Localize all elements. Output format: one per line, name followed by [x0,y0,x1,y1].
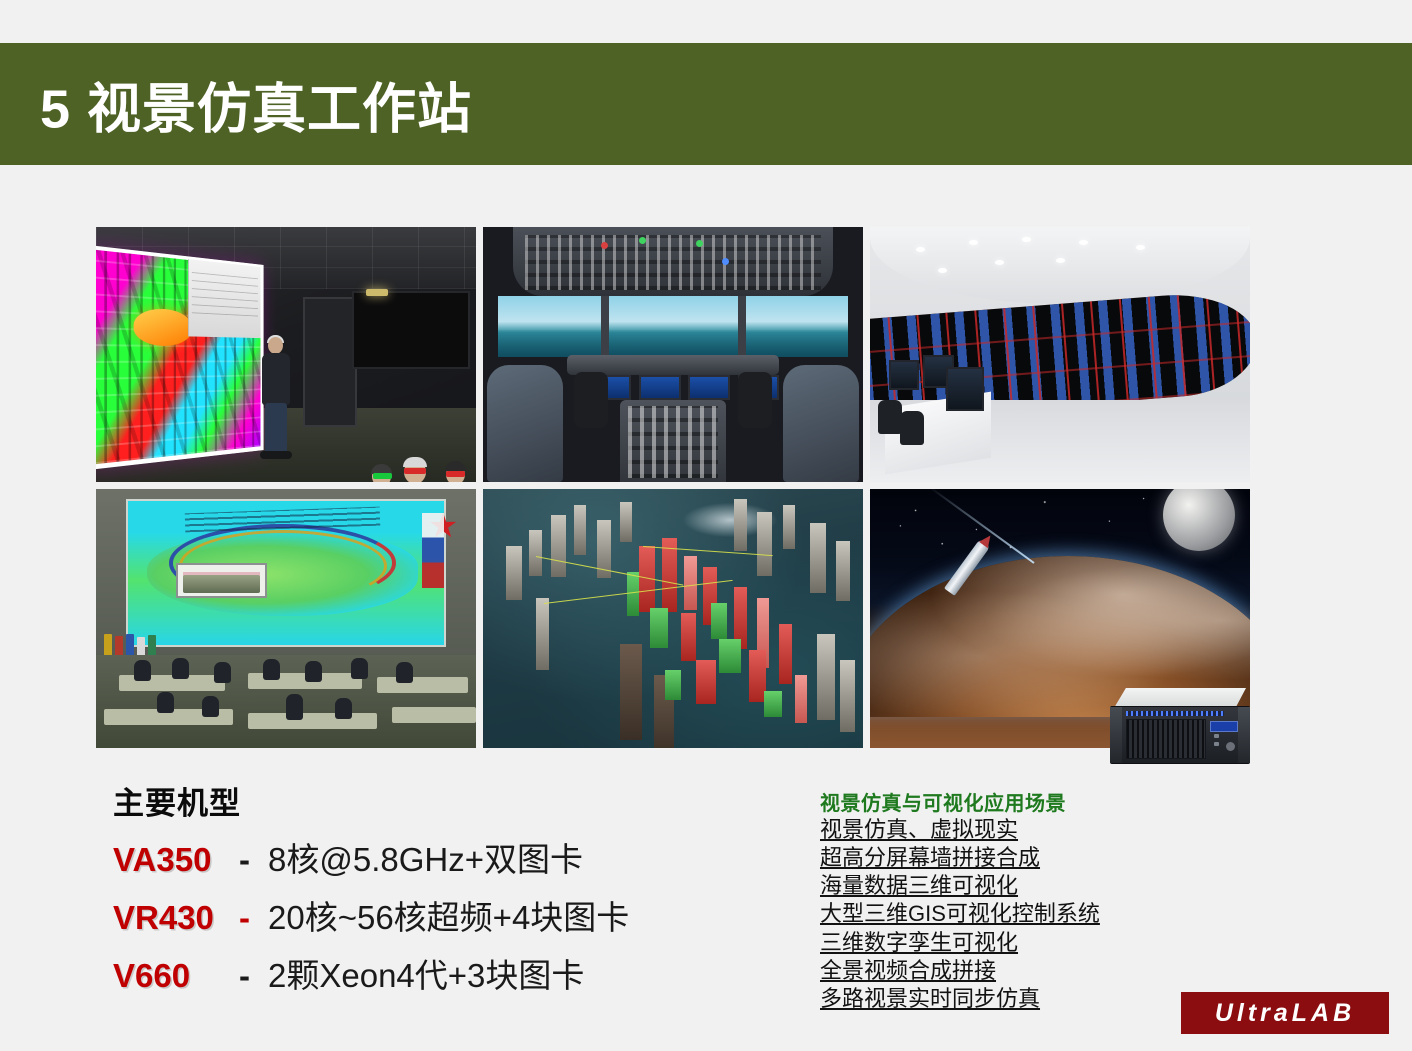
engine-display [688,375,730,401]
navigation-display-left [639,375,681,401]
image-rackmount-workstation [1110,688,1250,766]
ventilation-grille [1126,719,1206,759]
application-item: 海量数据三维可视化 [820,872,1150,900]
presenter-person [256,337,296,457]
application-item: 三维数字孪生可视化 [820,929,1150,957]
models-heading: 主要机型 [113,778,733,823]
image-gallery: ★ [96,227,1250,748]
model-dash: - [239,841,250,879]
pilot-seat-left [487,365,563,482]
operator-monitor-1 [889,360,919,391]
model-row: V660- 2颗Xeon4代+3块图卡 [113,949,733,997]
window-divider-right [738,296,746,357]
application-item: 全景视频合成拼接 [820,957,1150,985]
image-military-command-center: ★ [96,489,476,748]
control-yoke-left [574,372,608,428]
image-3d-city-gis-model [483,489,863,748]
application-item: 超高分屏幕墙拼接合成 [820,844,1150,872]
projection-screen [96,245,264,470]
cad-toolbar [188,259,261,338]
center-pedestal [620,400,726,482]
window-divider-left [601,296,609,357]
status-led-2 [1214,742,1219,746]
missile-launcher-inset [176,563,267,597]
command-display-wall: ★ [126,499,445,647]
model-spec: 2颗Xeon4代+3块图卡 [268,949,584,997]
simulated-outside-view [498,296,848,357]
conference-tables-area [96,655,476,748]
server-top-cover [1114,688,1246,708]
rack-ear-left [1110,707,1122,763]
application-item: 大型三维GIS可视化控制系统 [820,900,1150,928]
image-stereo-3d-review-room [96,227,476,482]
model-dash: - [239,957,250,995]
power-button[interactable] [1226,742,1235,751]
image-flight-simulator-cockpit [483,227,863,482]
applications-heading: 视景仿真与可视化应用场景 [820,787,1150,816]
application-item: 多路视景实时同步仿真 [820,985,1150,1013]
model-row: VR430- 20核~56核超频+4块图卡 [113,891,733,939]
control-yoke-right [738,372,772,428]
operator-monitor-3 [946,367,984,410]
page-title: 5 视景仿真工作站 [40,65,472,144]
model-spec: 8核@5.8GHz+双图卡 [268,833,583,881]
operator-chair-2 [900,411,924,445]
model-dash: - [239,899,250,937]
lcd-status-display [1210,721,1238,732]
logo-text: UltraLAB [1215,999,1355,1028]
door [303,297,357,427]
model-name: VA350 [113,841,239,879]
slide-title-bar: 5 视景仿真工作站 [0,43,1412,165]
pilot-seat-right [783,365,859,482]
model-name: VR430 [113,899,239,937]
front-led-strip [1126,711,1224,716]
model-name: V660 [113,957,239,995]
model-row: VA350- 8核@5.8GHz+双图卡 [113,833,733,881]
dark-wall-panel [352,291,470,369]
overhead-panel [513,227,832,296]
wall-light [366,289,388,296]
map-title-text [185,507,381,532]
operator-chair-1 [878,400,902,434]
image-rocket-earth-orbit [870,489,1250,748]
main-models-block: 主要机型 VA350- 8核@5.8GHz+双图卡 VR430- 20核~56核… [113,778,733,997]
applications-block: 视景仿真与可视化应用场景 视景仿真、虚拟现实 超高分屏幕墙拼接合成 海量数据三维… [820,787,1150,1013]
ultralab-logo: UltraLAB [1181,992,1389,1034]
inset-caption-bar [183,572,260,580]
application-item: 视景仿真、虚拟现实 [820,816,1150,844]
image-control-room-video-wall [870,227,1250,482]
russian-flag-graphic [422,513,444,588]
status-led-1 [1214,734,1219,738]
rack-ear-right [1238,707,1250,763]
model-spec: 20核~56核超频+4块图卡 [268,891,629,939]
